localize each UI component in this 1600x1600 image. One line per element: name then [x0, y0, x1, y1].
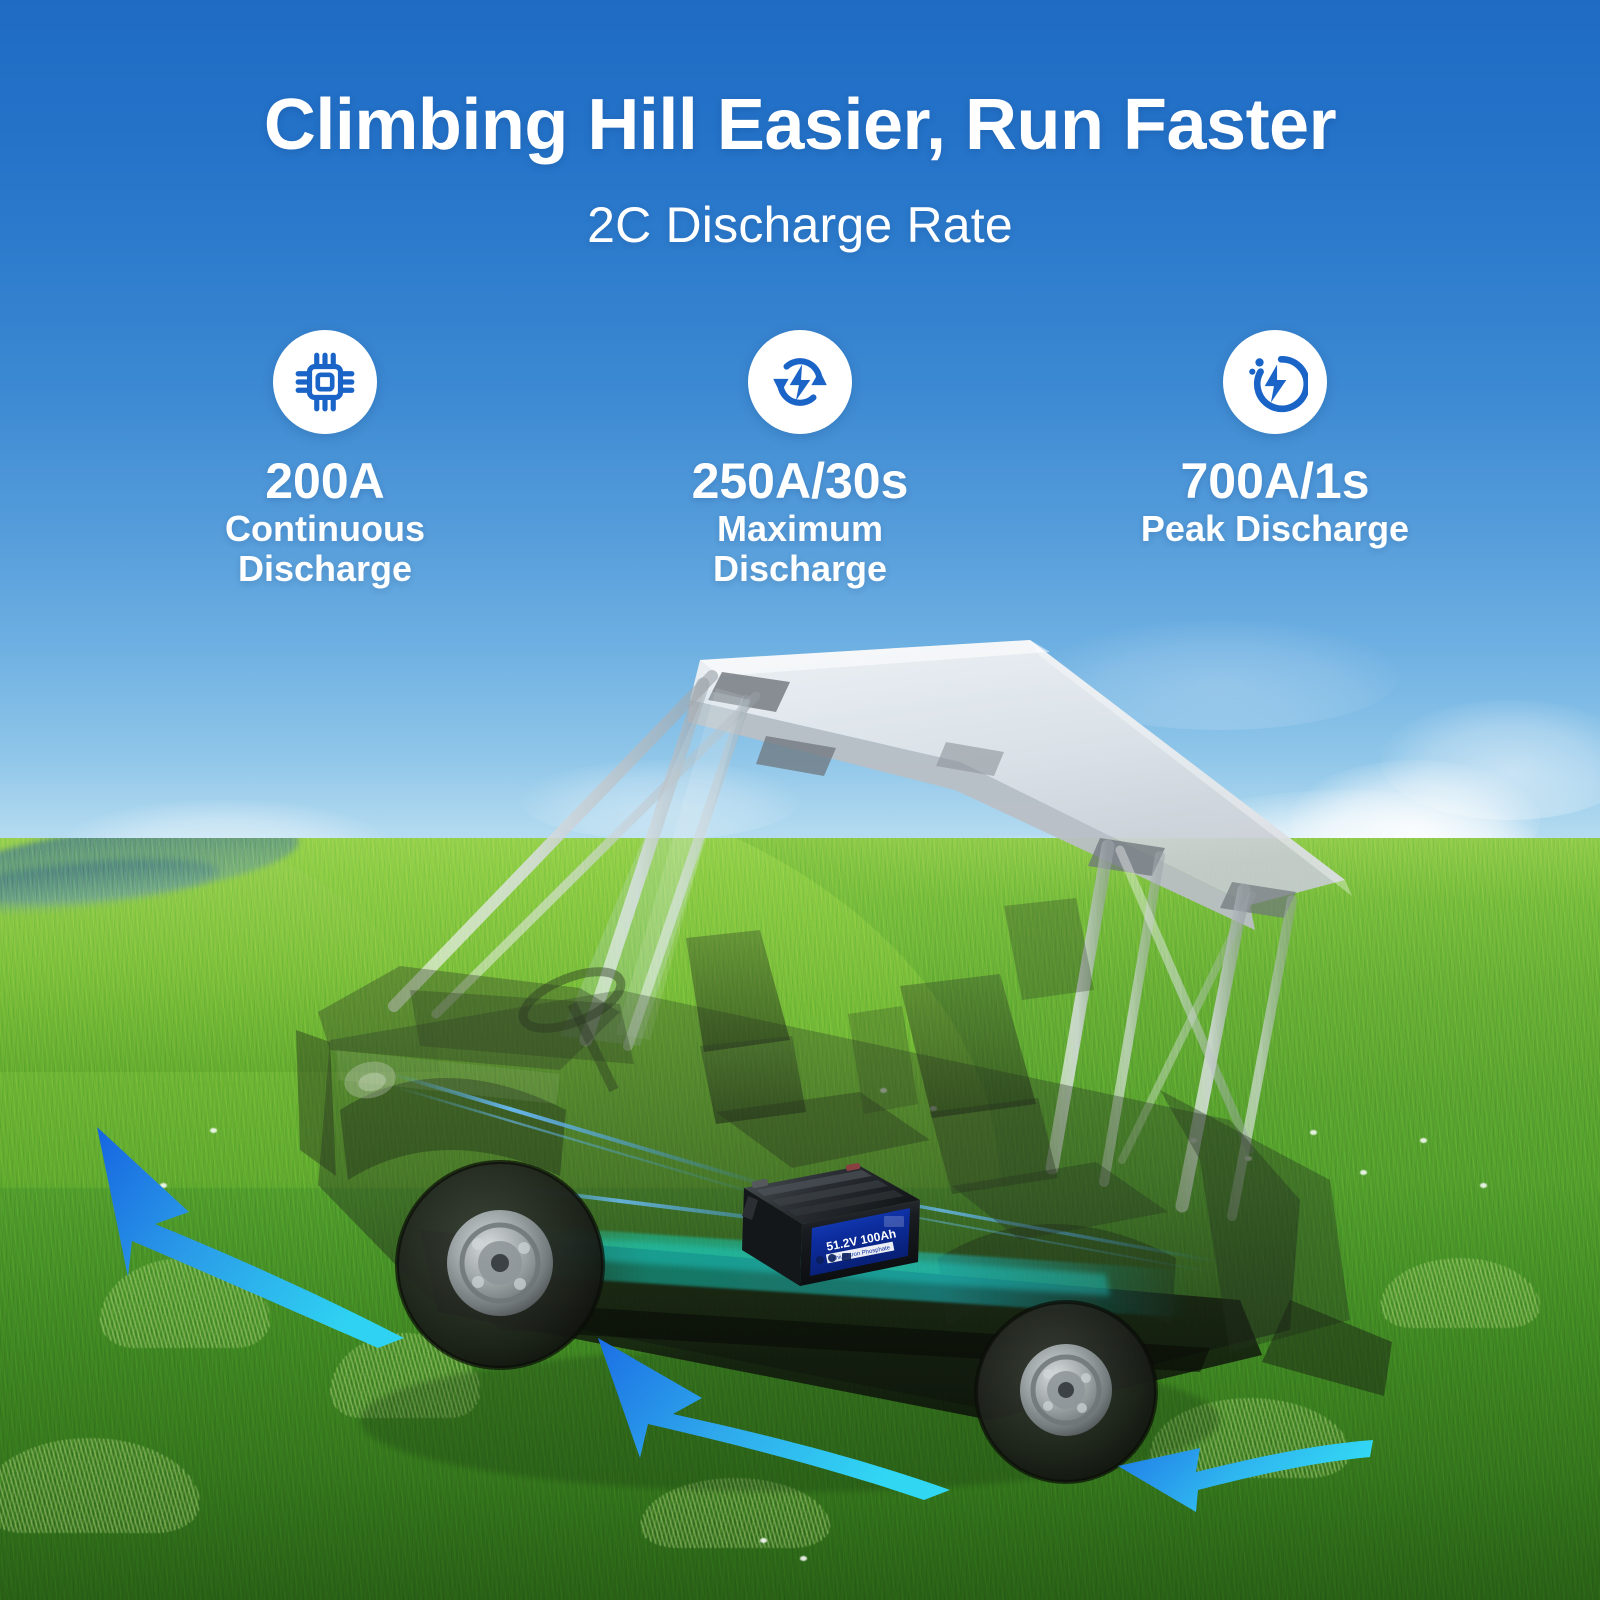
flower [1310, 1130, 1317, 1135]
flower [1190, 1138, 1197, 1143]
feature-label-line1: Maximum [717, 508, 883, 549]
flower [760, 1538, 767, 1543]
feature-label: Continuous Discharge [225, 509, 425, 590]
page-subtitle: 2C Discharge Rate [0, 196, 1600, 254]
flower [160, 1183, 167, 1188]
feature-label-line2: Discharge [713, 548, 887, 589]
feature-label: Peak Discharge [1141, 509, 1409, 549]
feature-item-maximum-discharge: 250A/30s Maximum Discharge [585, 330, 1015, 590]
feature-item-peak-discharge: 700A/1s Peak Discharge [1060, 330, 1490, 549]
feature-list: 200A Continuous Discharge 250A/30s Maxim… [110, 330, 1490, 630]
feature-label: Maximum Discharge [713, 509, 887, 590]
promo-banner: 51.2V 100Ah Lithium Iron Phosphate [0, 0, 1600, 1600]
flower [1360, 1170, 1367, 1175]
fast-charge-bolt-icon [1223, 330, 1327, 434]
feature-value: 200A [265, 456, 385, 507]
cycle-bolt-icon [748, 330, 852, 434]
flower [800, 1556, 807, 1561]
flower [930, 1106, 937, 1111]
page-title: Climbing Hill Easier, Run Faster [0, 88, 1600, 164]
feature-item-continuous-discharge: 200A Continuous Discharge [110, 330, 540, 590]
flower [210, 1128, 217, 1133]
feature-value: 250A/30s [692, 456, 909, 507]
cpu-chip-icon [273, 330, 377, 434]
flower [1480, 1183, 1487, 1188]
grass-field [0, 838, 1600, 1600]
flower [1245, 1156, 1252, 1161]
feature-label-line2: Discharge [238, 548, 412, 589]
feature-value: 700A/1s [1180, 456, 1369, 507]
flower [880, 1088, 887, 1093]
feature-label-line1: Continuous [225, 508, 425, 549]
feature-label-line1: Peak Discharge [1141, 508, 1409, 549]
flower [1420, 1138, 1427, 1143]
